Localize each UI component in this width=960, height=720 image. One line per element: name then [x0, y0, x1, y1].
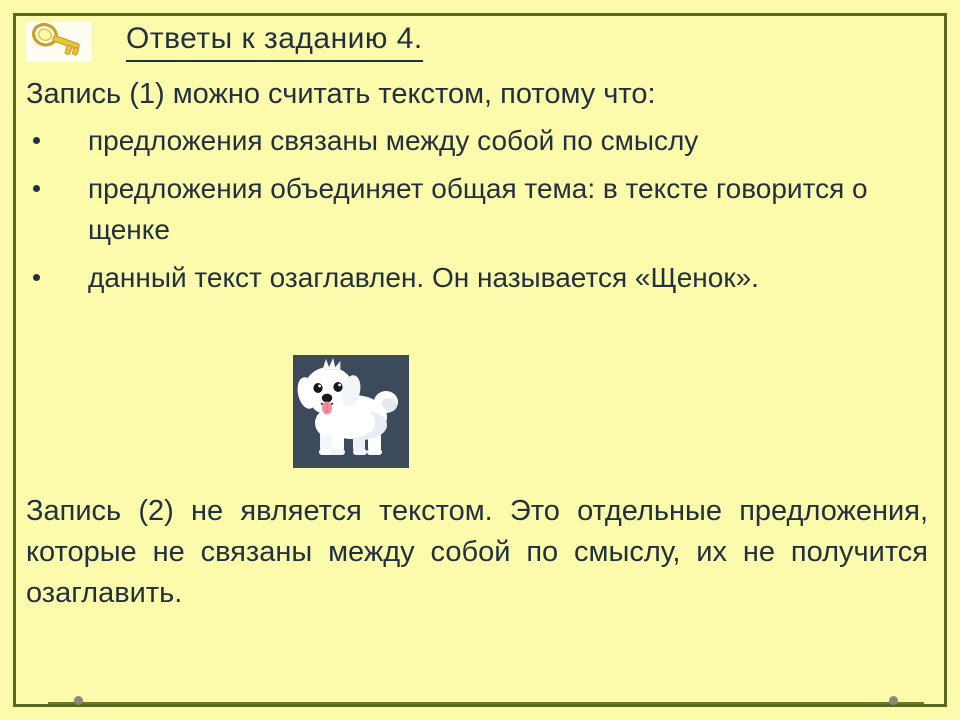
decorative-dot-right [889, 696, 898, 705]
list-item: предложения объединяет общая тема: в тек… [26, 168, 934, 250]
decorative-dot-left [74, 696, 83, 705]
list-item: данный текст озаглавлен. Он называется «… [26, 257, 934, 298]
list-item-label: данный текст озаглавлен. Он называется «… [88, 257, 930, 298]
slide-content: Ответы к заданию 4. Запись (1) можно счи… [26, 18, 934, 698]
bullet-dot-icon [33, 274, 40, 281]
answer-bullet-list: предложения связаны между собой по смысл… [26, 120, 934, 298]
list-item: предложения связаны между собой по смысл… [26, 120, 934, 161]
bullet-dot-icon [33, 185, 40, 192]
bottom-decoration [48, 690, 924, 712]
lead-paragraph: Запись (1) можно считать текстом, потому… [26, 74, 934, 114]
page-title: Ответы к заданию 4. [126, 20, 423, 62]
list-item-label: предложения связаны между собой по смысл… [88, 125, 698, 156]
bullet-dot-icon [33, 137, 40, 144]
golden-key-icon [26, 22, 92, 62]
closing-paragraph: Запись (2) не является текстом. Это отде… [26, 491, 928, 614]
white-puppy-photo [293, 355, 409, 468]
title-row: Ответы к заданию 4. [26, 18, 934, 68]
list-item-label: предложения объединяет общая тема: в тек… [88, 173, 868, 245]
slide-canvas: Ответы к заданию 4. Запись (1) можно счи… [0, 0, 960, 720]
decorative-rule [48, 702, 924, 704]
